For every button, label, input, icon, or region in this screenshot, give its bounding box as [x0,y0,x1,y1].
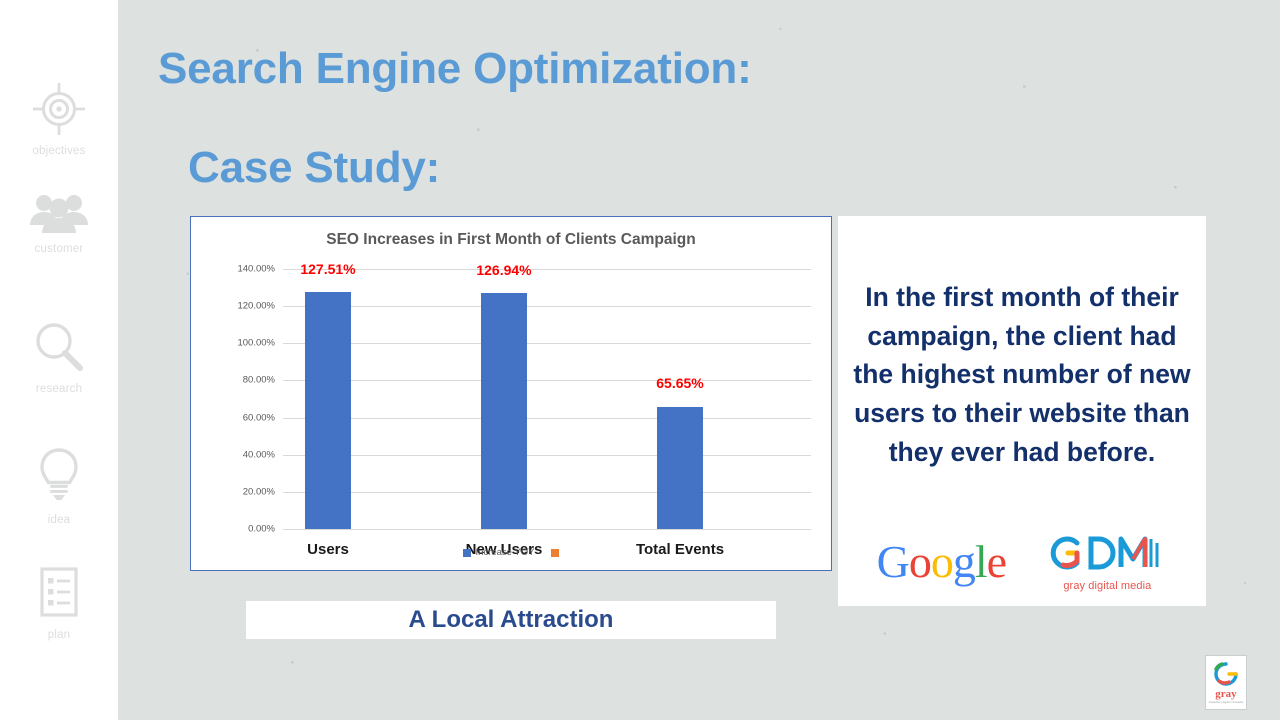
sidebar-item-plan[interactable]: plan [0,566,118,641]
sidebar-item-research[interactable]: research [0,320,118,395]
gridline: 40.00% [283,455,811,456]
y-axis-tick-label: 120.00% [237,301,275,312]
legend-swatch-increase-yoy [463,549,471,557]
logo-row: Google gray digital media [838,531,1206,592]
gridline: 0.00% [283,529,811,530]
bar-value-label: 127.51% [300,261,355,277]
y-axis-tick-label: 100.00% [237,338,275,349]
left-sidebar: objectives customer [0,0,118,720]
sidebar-item-customer[interactable]: customer [0,192,118,255]
gridline: 100.00% [283,343,811,344]
chart-legend: Increase YOY [191,547,831,558]
y-axis-tick-label: 20.00% [243,486,275,497]
gray-mark-icon [1212,661,1240,687]
bar-users[interactable] [305,292,351,529]
chart-panel: SEO Increases in First Month of Clients … [190,216,832,571]
bar-value-label: 126.94% [476,262,531,278]
gray-logo-badge[interactable]: gray interactive | digital | innovative [1205,655,1247,710]
gray-wordmark: gray [1215,688,1236,700]
target-icon [0,82,118,141]
magnifier-icon [0,320,118,379]
page-title-line1: Search Engine Optimization: [158,44,752,94]
sidebar-item-label: customer [0,243,118,255]
caption-bar: A Local Attraction [246,601,776,639]
y-axis-tick-label: 0.00% [248,524,275,535]
sidebar-item-idea[interactable]: idea [0,447,118,526]
right-text-panel: In the first month of their campaign, th… [838,216,1206,606]
y-axis-tick-label: 60.00% [243,412,275,423]
chart-plot-area: 0.00% 20.00% 40.00% 60.00% 80.00% 100.00… [283,269,811,529]
legend-label-increase-yoy: Increase YOY [476,547,535,558]
sidebar-item-label: objectives [0,145,118,157]
gdm-tagline: gray digital media [1047,581,1167,592]
chart-title: SEO Increases in First Month of Clients … [191,231,831,249]
sidebar-item-label: research [0,383,118,395]
checklist-icon [0,566,118,625]
sidebar-item-label: plan [0,629,118,641]
bar-total-events[interactable] [657,407,703,529]
gridline: 20.00% [283,492,811,493]
sidebar-item-label: idea [0,514,118,526]
bar-value-label: 65.65% [656,375,703,391]
legend-swatch-secondary [551,549,559,557]
sidebar-item-objectives[interactable]: objectives [0,82,118,157]
y-axis-tick-label: 80.00% [243,375,275,386]
gridline: 120.00% [283,306,811,307]
bar-new-users[interactable] [481,293,527,529]
y-axis-tick-label: 140.00% [237,264,275,275]
right-panel-body-text: In the first month of their campaign, th… [850,278,1194,471]
page-title-line2: Case Study: [188,143,440,193]
gdm-logo: gray digital media [1047,531,1167,592]
google-logo: Google [877,539,1006,585]
people-icon [0,192,118,239]
gridline: 60.00% [283,418,811,419]
gdm-mark-icon [1047,531,1167,575]
y-axis-tick-label: 40.00% [243,449,275,460]
gray-subtitle: interactive | digital | innovative [1209,701,1244,704]
gridline: 80.00% [283,380,811,381]
slide-canvas: objectives customer [0,0,1280,720]
gridline: 140.00% [283,269,811,270]
lightbulb-icon [0,447,118,510]
caption-text: A Local Attraction [409,606,614,634]
